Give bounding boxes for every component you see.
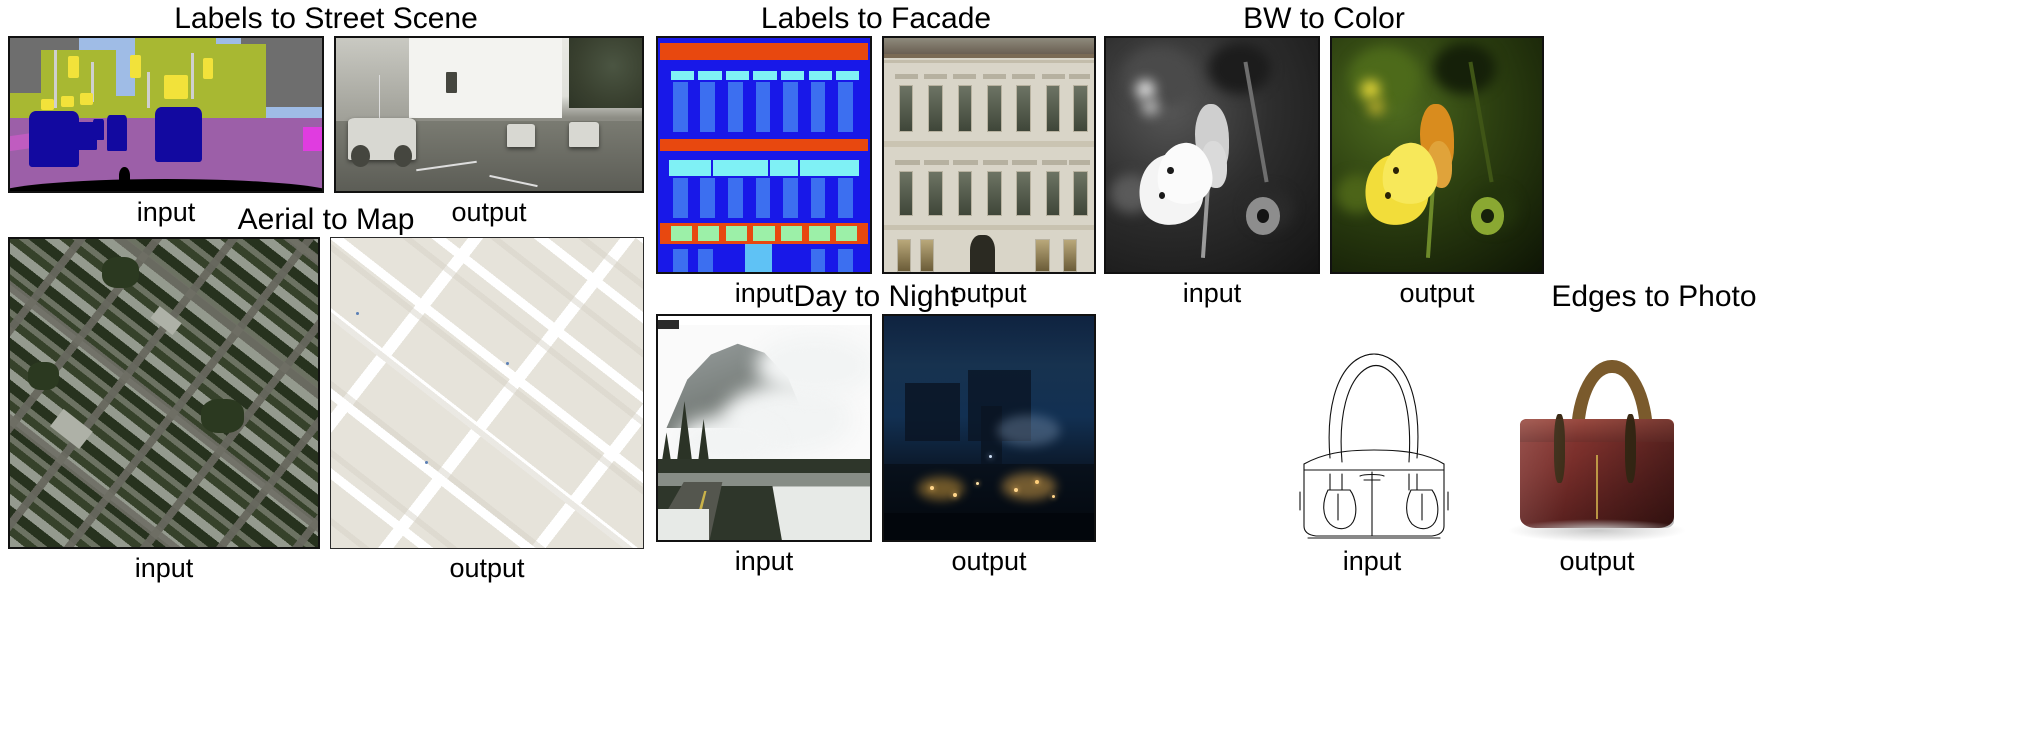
panel-bw-to-color: BW to Color input [1104,2,1544,310]
image-pair-bw-to-color: input output [1104,36,1544,310]
input-image-aerial-satellite-photo[interactable] [8,237,320,549]
image-pair-labels-to-street-scene: input output [8,36,644,229]
panel-labels-to-facade: Labels to Facade [656,2,1096,310]
input-image-edge-drawing-handbag[interactable] [1264,314,1480,542]
input-image-daytime-mountain-photo[interactable] [656,314,872,542]
input-cell-labels-to-facade: input [656,36,872,310]
input-cell-aerial-to-map: input [8,237,320,585]
figure-root: { "figure": { "caption_input": "input", … [0,0,2044,753]
output-image-nighttime-scene-photo[interactable] [882,314,1096,542]
output-cell-labels-to-facade: output [882,36,1096,310]
panel-aerial-to-map: Aerial to Map input [8,203,644,585]
image-pair-aerial-to-map: input output [8,237,644,585]
output-image-photo-leather-handbag[interactable] [1490,314,1704,542]
output-image-street-map-render[interactable] [330,237,644,549]
panel-title-bw-to-color: BW to Color [1104,2,1544,36]
panel-edges-to-photo: Edges to Photo [1104,280,2044,578]
input-image-semantic-label-map[interactable] [8,36,324,193]
input-cell-day-to-night: input [656,314,872,578]
input-cell-bw-to-color: input [1104,36,1320,310]
input-cell-labels-to-street-scene: input [8,36,324,229]
output-image-colorized-butterfly-photo[interactable] [1330,36,1544,274]
output-cell-labels-to-street-scene: output [334,36,644,229]
panel-title-edges-to-photo: Edges to Photo [1264,280,2044,314]
output-image-photo-street-scene[interactable] [334,36,644,193]
panel-title-aerial-to-map: Aerial to Map [8,203,644,237]
caption-input-aerial-to-map: input [8,549,320,585]
caption-output-edges-to-photo: output [1490,542,1704,578]
output-image-photo-building-facade[interactable] [882,36,1096,274]
panel-labels-to-street-scene: Labels to Street Scene [8,2,644,229]
output-cell-bw-to-color: output [1330,36,1544,310]
input-image-grayscale-butterfly-photo[interactable] [1104,36,1320,274]
caption-output-day-to-night: output [882,542,1096,578]
image-pair-day-to-night: input output [656,314,1096,578]
caption-input-edges-to-photo: input [1264,542,1480,578]
panel-title-day-to-night: Day to Night [656,280,1096,314]
input-cell-edges-to-photo: input [1264,314,1480,578]
image-pair-edges-to-photo: input output [1264,314,2044,578]
panel-title-labels-to-street-scene: Labels to Street Scene [8,2,644,36]
output-cell-aerial-to-map: output [330,237,644,585]
panel-title-labels-to-facade: Labels to Facade [656,2,1096,36]
handbag-edge-drawing-svg [1264,314,1480,542]
input-image-facade-label-map[interactable] [656,36,872,274]
caption-input-day-to-night: input [656,542,872,578]
caption-output-aerial-to-map: output [330,549,644,585]
output-cell-edges-to-photo: output [1490,314,1704,578]
panel-day-to-night: Day to Night input [656,280,1096,578]
output-cell-day-to-night: output [882,314,1096,578]
image-pair-labels-to-facade: input [656,36,1096,310]
